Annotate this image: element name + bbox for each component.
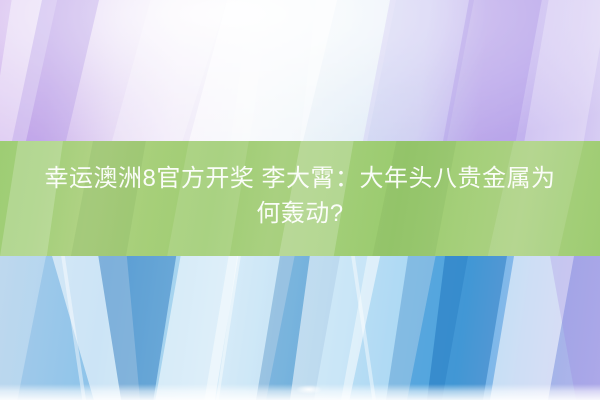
caption-text-block: 幸运澳洲8官方开奖 李大霄：大年头八贵金属为 何轰动? — [0, 141, 600, 256]
caption-line-2: 何轰动? — [256, 196, 343, 231]
bottom-light-speck — [296, 385, 322, 394]
upper-gradient-panel — [0, 0, 600, 141]
caption-line-1: 幸运澳洲8官方开奖 李大霄：大年头八贵金属为 — [44, 161, 555, 196]
lower-gradient-panel — [0, 256, 600, 400]
banner-image: 幸运澳洲8官方开奖 李大霄：大年头八贵金属为 何轰动? — [0, 0, 600, 400]
